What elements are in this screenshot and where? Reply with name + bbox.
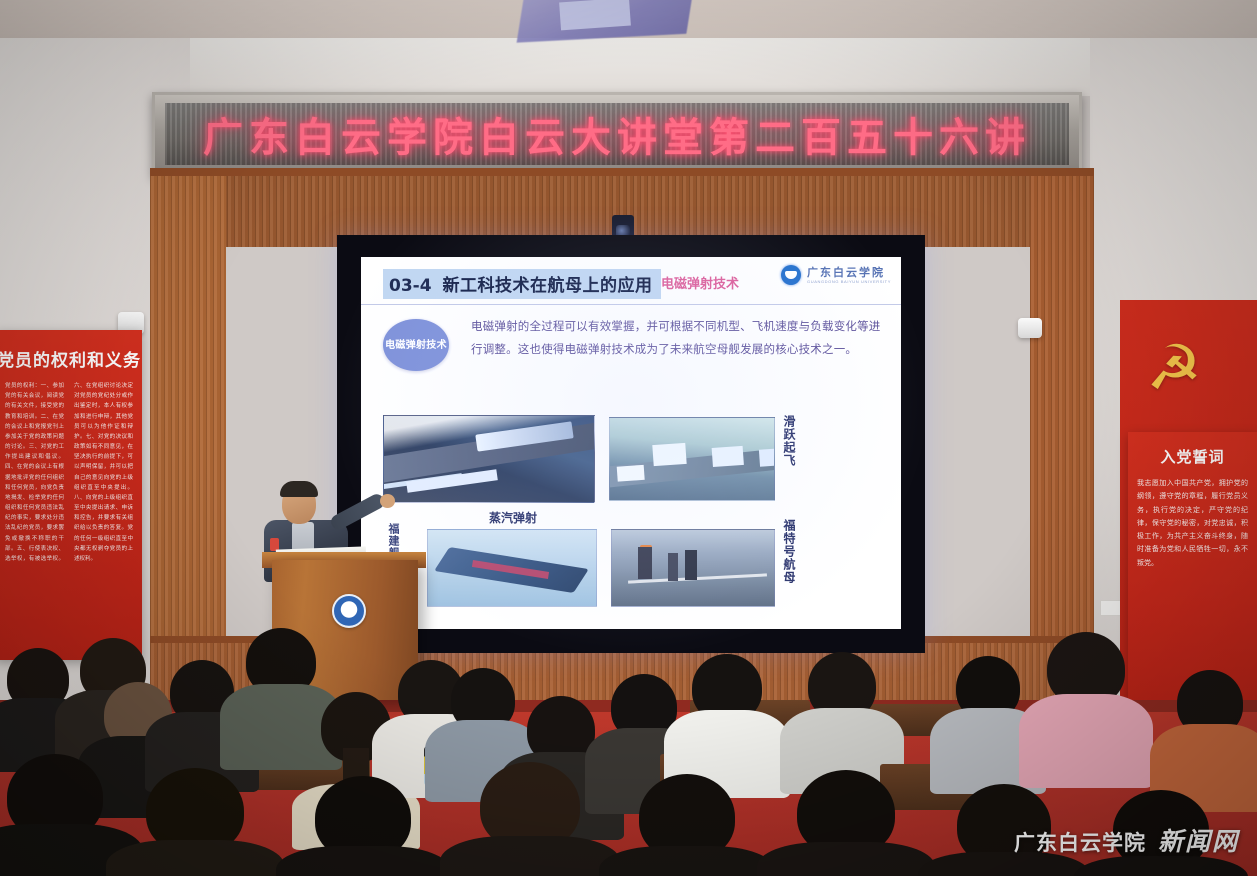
audience-member [1158, 670, 1257, 810]
university-logo: 广东白云学院 GUANGDONG BAIYUN UNIVERSITY [781, 265, 891, 285]
slide-caption-ford-carrier: 福特号航母 [781, 519, 798, 584]
watermark-site: 新闻网 [1158, 822, 1239, 858]
speaker-hand [380, 494, 395, 508]
slide-title-block: 03-4 新工科技术在航母上的应用 [383, 269, 661, 299]
slide-subtitle: 电磁弹射技术 [661, 273, 739, 292]
university-logo-text: 广东白云学院 GUANGDONG BAIYUN UNIVERSITY [807, 267, 891, 284]
slide-photo-ski-jump-deck [609, 417, 775, 501]
audience-member-front [770, 770, 922, 876]
audience-member-front [120, 768, 270, 876]
watermark-organization: 广东白云学院 [1014, 827, 1146, 857]
slide-caption-steam-catapult: 蒸汽弹射 [489, 509, 537, 526]
university-logo-name-en: GUANGDONG BAIYUN UNIVERSITY [807, 280, 891, 284]
audience-shoulders [757, 842, 935, 876]
audience-member [1028, 632, 1144, 788]
presentation-slide: 03-4 新工科技术在航母上的应用 电磁弹射技术 广东白云学院 GUANGDON… [361, 257, 901, 629]
led-banner-text: 广东白云学院白云大讲堂第二百五十六讲 [203, 105, 1031, 163]
university-logo-name-cn: 广东白云学院 [807, 267, 891, 278]
party-emblem-icon: ☭ [1128, 330, 1220, 408]
slide-section-number: 03-4 [389, 276, 432, 296]
deck-crew-vest [640, 545, 653, 557]
audience-member-front [452, 762, 608, 876]
wall-sensor-right-icon [1018, 318, 1042, 338]
slide-photo-carrier-deck-launch [383, 415, 595, 503]
sign-party-member-rights-body: 党员的权利：一、参加党的有关会议，阅读党的有关文件，接受党的教育和培训。二、在党… [0, 381, 142, 564]
speaker-raised-arm [328, 492, 386, 532]
slide-body-text: 电磁弹射的全过程可以有效掌握，并可根据不同机型、飞机速度与负载变化等进行调整。这… [471, 315, 881, 361]
university-logo-icon [781, 265, 801, 285]
sign-party-oath-title: 入党誓词 [1128, 446, 1257, 467]
audience-shoulders [106, 840, 284, 876]
watermark: 广东白云学院 新闻网 [1014, 822, 1239, 858]
slide-photo-steam-catapult-ship [427, 529, 597, 607]
audience-member-front [288, 776, 438, 876]
slide-topic-badge-label: 电磁弹射技术 [385, 340, 447, 351]
sign-party-oath-body: 我志愿加入中国共产党，拥护党的纲领，遵守党的章程，履行党员义务，执行党的决定，严… [1128, 477, 1257, 570]
slide-topic-badge: 电磁弹射技术 [383, 319, 449, 371]
audience-shoulders [599, 846, 775, 876]
wood-trim-top [150, 168, 1094, 176]
audience-shoulders [1019, 694, 1153, 788]
slide-title: 新工科技术在航母上的应用 [443, 271, 653, 296]
slide-photo-ford-carrier-deck [611, 529, 775, 607]
led-banner-screen: 广东白云学院白云大讲堂第二百五十六讲 [165, 103, 1069, 165]
audience-shoulders [440, 836, 620, 876]
sign-party-member-rights-title: 党员的权利和义务 [0, 346, 142, 371]
projection-screen: 03-4 新工科技术在航母上的应用 电磁弹射技术 广东白云学院 GUANGDON… [337, 235, 925, 653]
audience-shoulders [1074, 856, 1248, 876]
led-banner: 广东白云学院白云大讲堂第二百五十六讲 [152, 92, 1082, 176]
slide-caption-ski-jump: 滑跃起飞 [781, 415, 798, 467]
lecture-hall-photo: 广东白云学院白云大讲堂第二百五十六讲 03-4 新工科技术在航母上的应用 电磁弹… [0, 0, 1257, 876]
audience-shoulders [276, 846, 450, 876]
audience-member-front [612, 774, 762, 876]
upper-wall [150, 38, 1110, 96]
projector-light-spill-highlight [559, 0, 631, 30]
speaker-hair [280, 481, 318, 497]
